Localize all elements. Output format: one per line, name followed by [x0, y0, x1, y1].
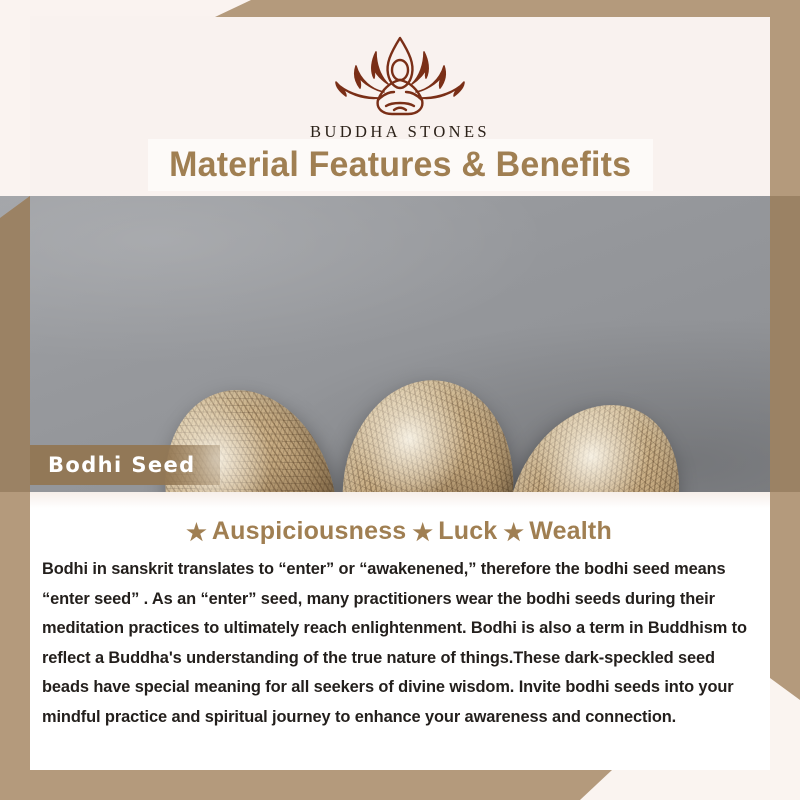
title-banner: Material Features & Benefits — [148, 139, 653, 191]
brand-logo: BUDDHA STONES — [30, 30, 770, 141]
description-paragraph: Bodhi in sanskrit translates to “enter” … — [42, 555, 758, 732]
frame-band-bottom — [0, 770, 612, 800]
product-name-label: Bodhi Seed — [48, 453, 196, 477]
frame-band-right-shaded — [770, 196, 800, 492]
benefit-item-auspiciousness: Auspiciousness — [212, 517, 407, 545]
star-icon: ★ — [412, 519, 433, 545]
benefit-item-wealth: Wealth — [529, 517, 612, 545]
content-top-fade — [30, 492, 770, 508]
frame-band-left-shaded — [0, 196, 30, 492]
poster-root: BUDDHA STONES Material Features & Benefi… — [0, 0, 800, 800]
product-name-badge: Bodhi Seed — [30, 445, 220, 485]
star-icon: ★ — [503, 519, 524, 545]
benefits-list: ★Auspiciousness★Luck★Wealth — [30, 517, 770, 546]
star-icon: ★ — [186, 519, 207, 545]
frame-band-top — [215, 0, 800, 17]
page-title: Material Features & Benefits — [169, 145, 631, 185]
lotus-meditation-figure-icon — [320, 30, 480, 122]
content-section: ★Auspiciousness★Luck★Wealth Bodhi in san… — [30, 492, 770, 770]
benefit-item-luck: Luck — [438, 517, 497, 545]
